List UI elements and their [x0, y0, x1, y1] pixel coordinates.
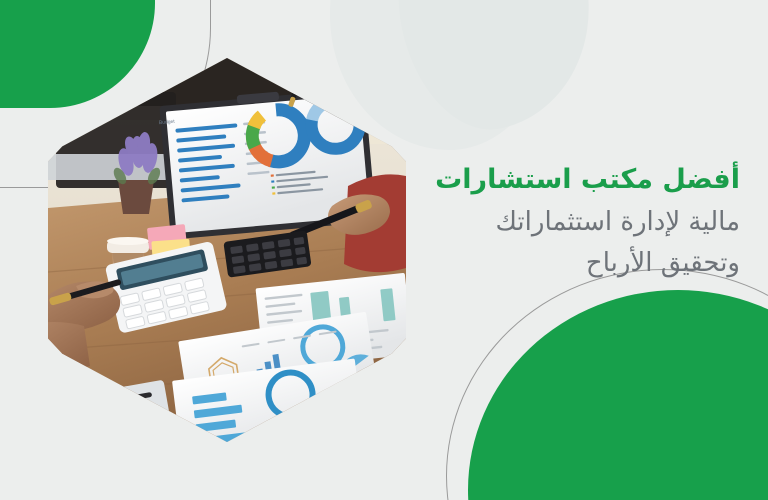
- banner-root: Budget: [0, 0, 768, 500]
- bottom-right-green-shape: [468, 290, 768, 500]
- headline-line-1: أفضل مكتب استشارات: [410, 162, 740, 198]
- headline-block: أفضل مكتب استشارات مالية لإدارة استثمارا…: [410, 162, 740, 283]
- headline-subtext: مالية لإدارة استثماراتك وتحقيق الأرباح: [410, 202, 740, 283]
- headline-line-2: مالية لإدارة استثماراتك: [410, 202, 740, 242]
- headline-line-3: وتحقيق الأرباح: [410, 243, 740, 283]
